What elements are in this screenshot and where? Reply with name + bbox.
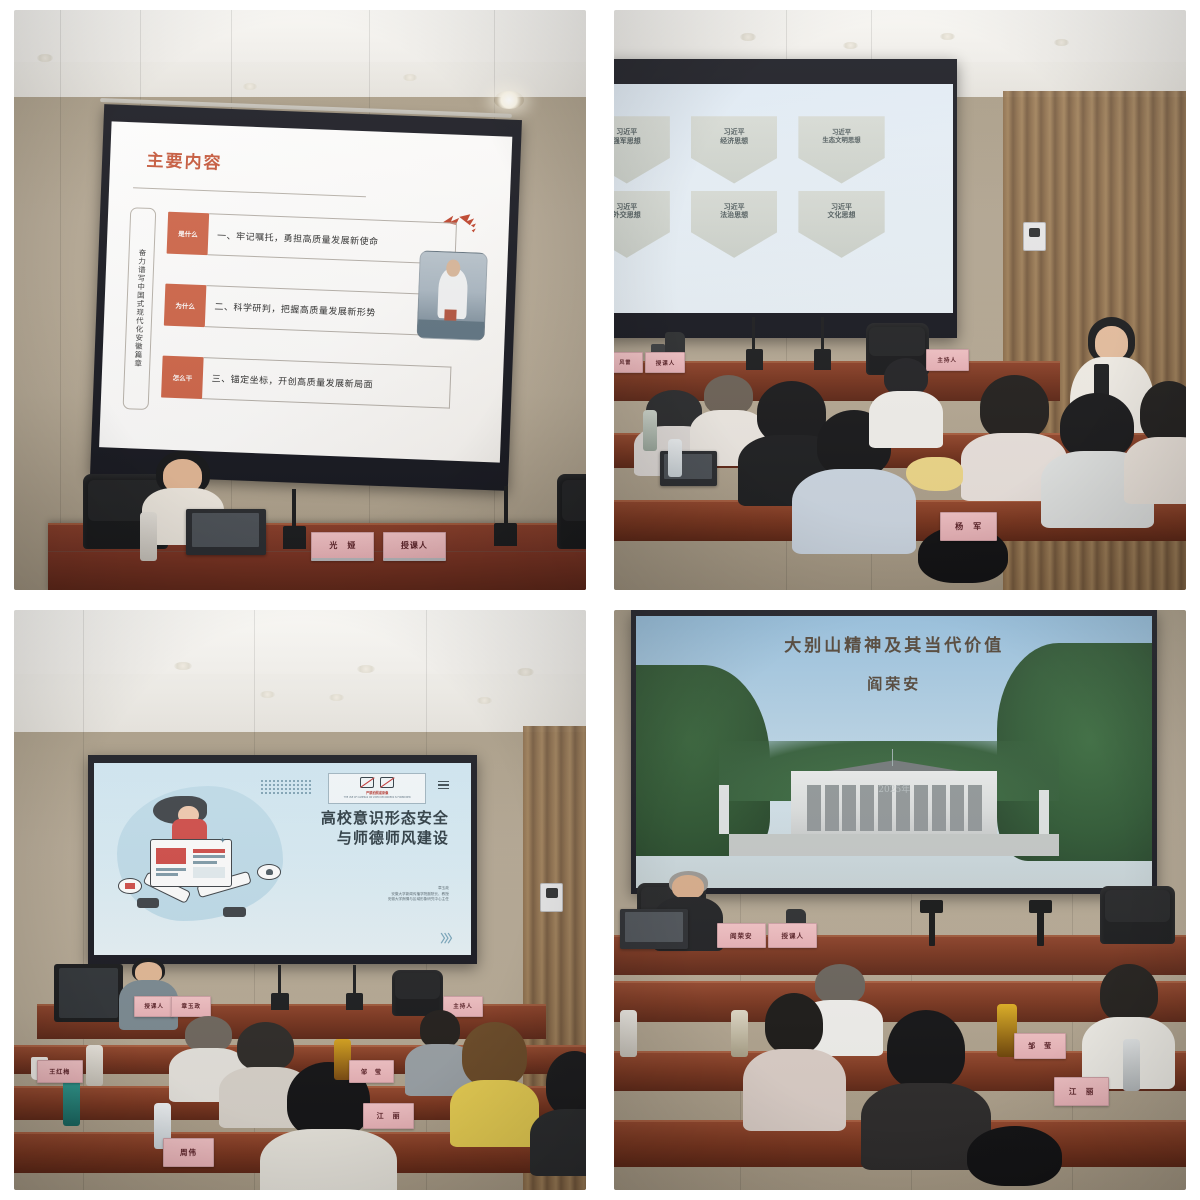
- nameplate: 光 娅: [311, 532, 374, 561]
- thought-cell-line2: 经济思想: [720, 137, 748, 146]
- slide-title-line1: 高校意识形态安全: [321, 809, 449, 829]
- sign-sublabel: THE USE OF CAMERAS OR VIDEO RECORDERS IS…: [344, 797, 411, 799]
- projection-screen-border: 习近平 强军思想 习近平 经济思想: [614, 59, 957, 337]
- monument-pillar: [1039, 790, 1049, 834]
- audience-person: [751, 993, 837, 1121]
- audience-person: [1129, 381, 1186, 497]
- thought-cell-line2: 外交思想: [614, 211, 641, 220]
- lecture-room-1: 主要内容 奋力谱写中国式现代化安徽篇章: [14, 10, 586, 590]
- speaker-laptop: [620, 909, 689, 950]
- desk-microphone: [346, 993, 363, 1010]
- outline-row-tag: 怎么干: [161, 355, 203, 399]
- lecture-room-3: ✦ 严禁拍照或录像 THE USE OF CAMERAS OR VIDEO RE…: [14, 610, 586, 1190]
- nameplate: 授课人: [768, 923, 817, 947]
- lecturer-person: [123, 958, 174, 1028]
- projection-screen-border: 主要内容 奋力谱写中国式现代化安徽篇章: [90, 104, 521, 491]
- thought-cell: 习近平 外交思想: [614, 191, 670, 258]
- speaker-laptop: [186, 509, 266, 555]
- ceiling-downlight: [329, 694, 344, 701]
- outline-row: 是什么 一、牢记嘱托，勇担高质量发展新使命: [167, 211, 457, 265]
- thought-grid: 习近平 强军思想 习近平 经济思想: [614, 116, 885, 258]
- outline-row-text: 三、锚定坐标，开创高质量发展新局面: [202, 356, 452, 408]
- yellow-bag: [906, 457, 963, 492]
- thought-cell: 习近平 强军思想: [614, 116, 670, 183]
- slide-subtitle: 章玉政 安徽大学新闻传播学院副院长、教授 安徽大学舆情与区域形象研究中心主任: [388, 886, 449, 902]
- nameplate: 阎荣安: [717, 923, 766, 947]
- thought-cell-line1: 习近平: [724, 128, 745, 137]
- thermos-bottle: [620, 1010, 637, 1056]
- slide-inset-photo: [416, 250, 487, 341]
- user-badge-icon: [257, 864, 281, 880]
- thermos-bottle: [643, 410, 658, 451]
- side-chair: [557, 474, 586, 549]
- desk-microphone: [920, 900, 943, 913]
- audience-person: [454, 1022, 534, 1138]
- ceiling-downlight: [403, 74, 417, 81]
- nameplate: 周伟: [163, 1138, 214, 1167]
- thermos-bottle: [1123, 1039, 1140, 1091]
- collage-panel-1: 主要内容 奋力谱写中国式现代化安徽篇章: [0, 0, 600, 600]
- outline-row-tag: 为什么: [164, 283, 206, 327]
- thought-cell-line2: 法治思想: [720, 211, 748, 220]
- lecture-room-4: 大别山精神及其当代价值 阎荣安 2025年: [614, 610, 1186, 1190]
- image-badge-icon: [118, 878, 142, 894]
- audience-person: [940, 1126, 1089, 1190]
- audience-person: [871, 358, 940, 445]
- nameplate: 邹 莹: [349, 1060, 395, 1083]
- lecture-room-2: 习近平 强军思想 习近平 经济思想: [614, 10, 1186, 590]
- no-photography-sign-icon: 严禁拍照或录像 THE USE OF CAMERAS OR VIDEO RECO…: [328, 773, 426, 804]
- outline-row-tag: 是什么: [167, 211, 209, 255]
- slide-presenter: 阎荣安: [636, 673, 1152, 694]
- thought-cell-line2: 强军思想: [614, 137, 641, 146]
- side-chair: [1100, 886, 1174, 944]
- nameplate: 授课人: [134, 996, 174, 1017]
- thermos-bottle: [731, 1010, 748, 1056]
- slide-title: 高校意识形态安全 与师德师风建设: [321, 809, 449, 848]
- wall-camera-icon: [540, 883, 563, 912]
- projection-screen-border: 大别山精神及其当代价值 阎荣安 2025年: [631, 610, 1157, 894]
- thought-cell: 习近平 经济思想: [691, 116, 777, 183]
- desk-microphone: [1029, 900, 1052, 913]
- sign-label: 严禁拍照或录像: [366, 790, 388, 795]
- thought-cell: 习近平 法治思想: [691, 191, 777, 258]
- nameplate: 江 丽: [1054, 1077, 1108, 1106]
- slide-ideology-title: ✦ 严禁拍照或录像 THE USE OF CAMERAS OR VIDEO RE…: [94, 763, 471, 955]
- slide-date: 2025年: [636, 782, 1152, 795]
- desk-microphone: [283, 526, 306, 549]
- slide-title: 大别山精神及其当代价值: [636, 631, 1152, 656]
- photo-collage: 主要内容 奋力谱写中国式现代化安徽篇章: [0, 0, 1200, 1200]
- desk-microphone: [814, 349, 831, 369]
- slide-title: 主要内容: [146, 145, 223, 173]
- thought-cell: 习近平 生态文明思想: [798, 116, 884, 183]
- collage-panel-2: 习近平 强军思想 习近平 经济思想: [600, 0, 1200, 600]
- nameplate: 章玉政: [171, 996, 211, 1017]
- water-bottle: [668, 439, 682, 477]
- desk-monitor: [54, 964, 123, 1022]
- slide-sidebar-text: 奋力谱写中国式现代化安徽篇章: [123, 206, 157, 409]
- nameplate: 邹 莹: [1014, 1033, 1065, 1059]
- outline-row: 为什么 二、科学研判，把握高质量发展新形势: [164, 283, 454, 337]
- thermos-bottle: [63, 1080, 80, 1126]
- outline-row: 怎么干 三、锚定坐标，开创高质量发展新局面: [161, 355, 451, 409]
- runner-illustration: ✦: [124, 790, 282, 932]
- collage-panel-4: 大别山精神及其当代价值 阎荣安 2025年: [600, 600, 1200, 1200]
- nameplate: 江 丽: [363, 1103, 414, 1129]
- desk-microphone: [746, 349, 763, 369]
- slide-main-content: 主要内容 奋力谱写中国式现代化安徽篇章: [99, 121, 512, 463]
- nameplate: 授课人: [645, 352, 685, 373]
- chevron-right-icon: 〉〉〉: [440, 930, 456, 946]
- sparkle-icon: ✦: [219, 836, 226, 845]
- projection-screen-border: ✦ 严禁拍照或录像 THE USE OF CAMERAS OR VIDEO RE…: [88, 755, 477, 964]
- thought-cell-line2: 生态文明思想: [822, 136, 860, 144]
- ceiling-downlight: [843, 42, 858, 49]
- hamburger-menu-icon: [438, 781, 449, 790]
- collage-panel-3: ✦ 严禁拍照或录像 THE USE OF CAMERAS OR VIDEO RE…: [0, 600, 600, 1200]
- nameplate: 杨 军: [940, 512, 997, 541]
- nameplate: 风雷: [614, 352, 643, 373]
- subtitle-line: 安徽大学舆情与区域形象研究中心主任: [388, 897, 449, 902]
- nameplate: 授课人: [383, 532, 446, 561]
- thought-cell-line1: 习近平: [616, 128, 637, 137]
- water-bottle: [140, 512, 157, 561]
- ceiling-downlight: [243, 83, 257, 90]
- slide-thought-grid: 习近平 强军思想 习近平 经济思想: [614, 84, 953, 312]
- thermos-bottle: [86, 1045, 103, 1086]
- wall-camera-icon: [1023, 222, 1046, 251]
- desk-microphone: [271, 993, 288, 1010]
- desk-microphone: [494, 523, 517, 546]
- thought-cell-line2: 文化思想: [828, 211, 856, 220]
- slide-title-line2: 与师德师风建设: [321, 829, 449, 849]
- audience-person: [535, 1051, 586, 1167]
- presider-chair: [392, 970, 443, 1016]
- ceiling-downlight: [37, 54, 53, 62]
- nameplate: 王红梅: [37, 1060, 83, 1083]
- thought-cell: 习近平 文化思想: [798, 191, 884, 258]
- slide-dabieshan-title: 大别山精神及其当代价值 阎荣安 2025年: [636, 616, 1152, 889]
